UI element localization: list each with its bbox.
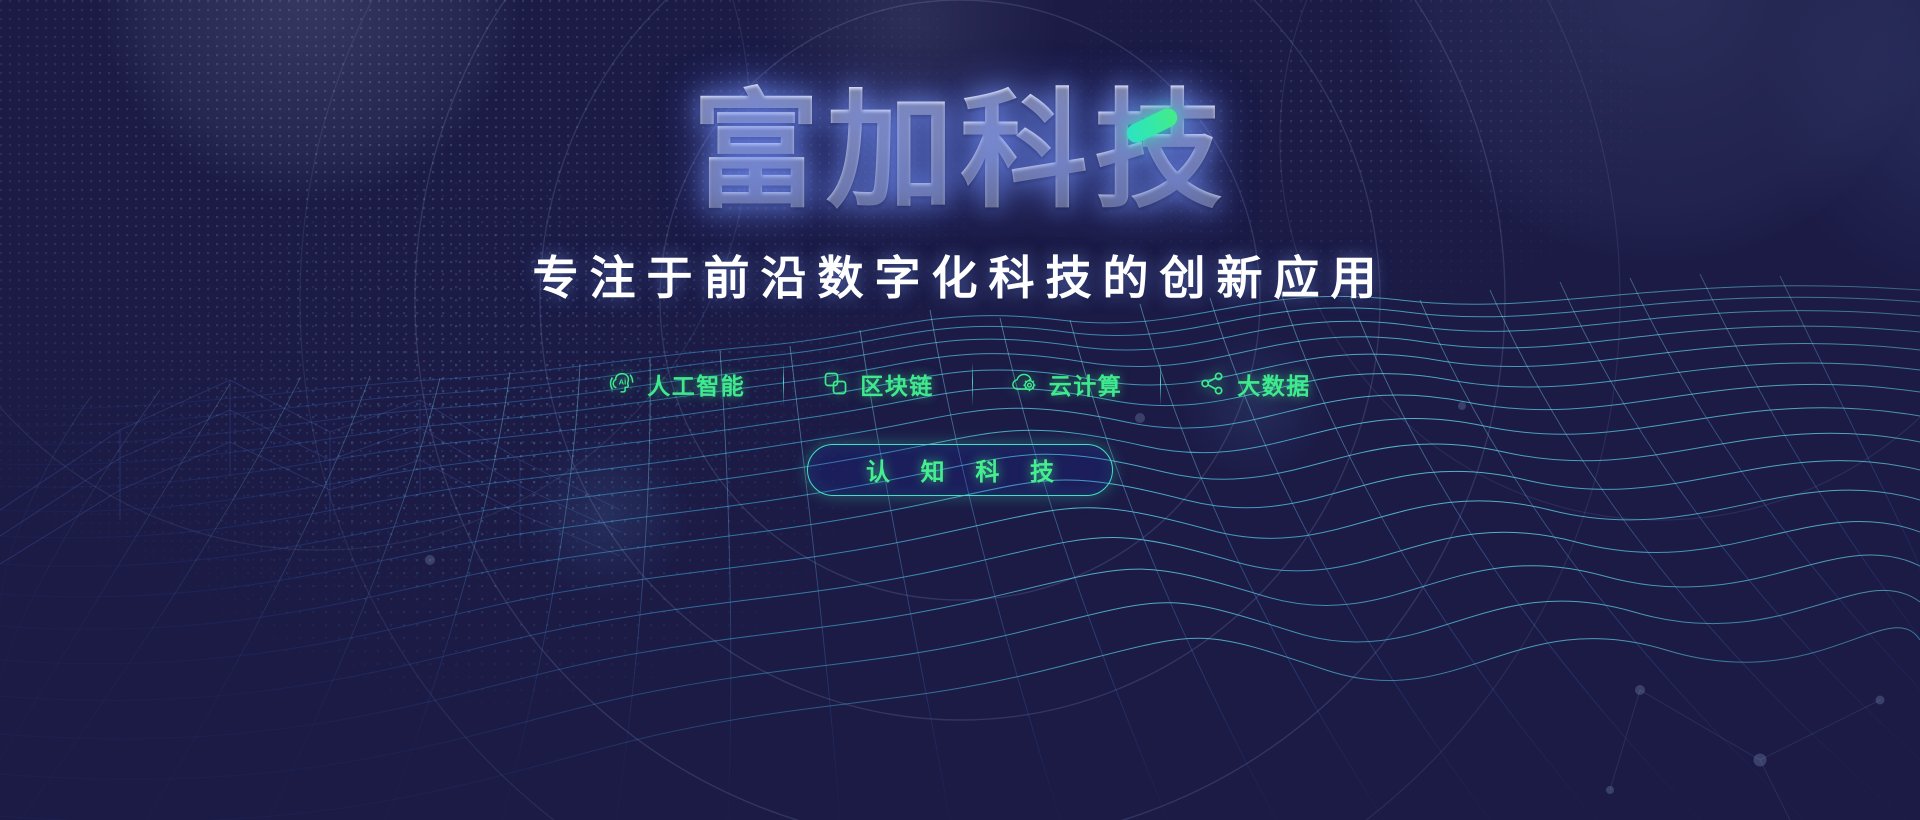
cloud-gear-icon: [1011, 370, 1038, 397]
hero-subtitle: 专注于前沿数字化科技的创新应用: [533, 242, 1388, 308]
hero-content: 富加科技 专注于前沿数字化科技的创新应用 AI 人工智能: [0, 0, 1920, 820]
blockchain-blocks-icon: [822, 370, 849, 397]
svg-text:AI: AI: [619, 378, 627, 387]
page-title: 富加科技: [692, 84, 1228, 220]
feature-tag-cloud[interactable]: 云计算: [973, 367, 1161, 401]
feature-tag-label: 大数据: [1237, 367, 1311, 401]
feature-tag-blockchain[interactable]: 区块链: [784, 367, 972, 401]
feature-tag-bigdata[interactable]: 大数据: [1161, 367, 1349, 401]
status-badge[interactable]: 认 知 科 技: [807, 444, 1113, 496]
hero-banner: 富加科技 专注于前沿数字化科技的创新应用 AI 人工智能: [0, 0, 1920, 820]
feature-tag-list: AI 人工智能 区块链: [571, 362, 1349, 406]
ai-head-icon: AI: [609, 370, 636, 397]
feature-tag-label: 人工智能: [647, 367, 745, 401]
brand-title-text: 富加科技: [692, 80, 1228, 223]
share-nodes-icon: [1199, 370, 1226, 397]
feature-tag-label: 区块链: [860, 367, 934, 401]
status-badge-label: 认 知 科 技: [854, 452, 1066, 487]
feature-tag-label: 云计算: [1049, 367, 1123, 401]
feature-tag-ai[interactable]: AI 人工智能: [571, 367, 783, 401]
